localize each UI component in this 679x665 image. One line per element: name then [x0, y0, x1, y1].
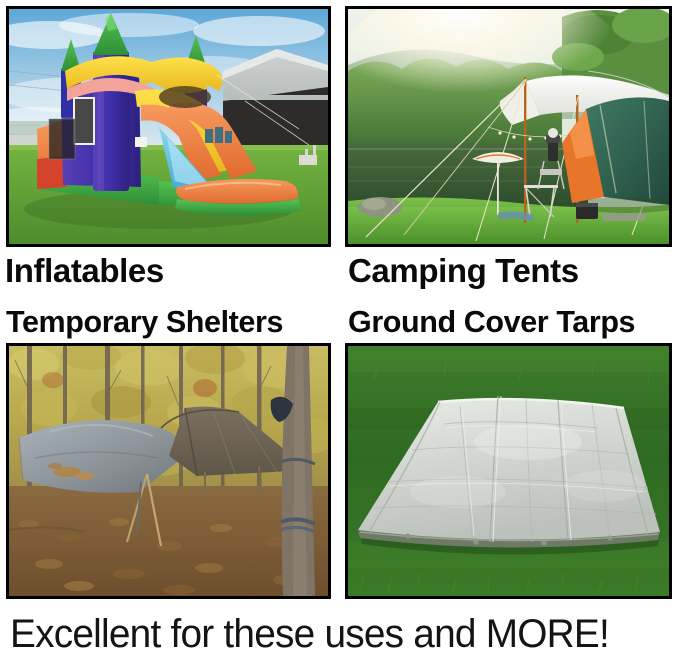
bottom-caption: Excellent for these uses and MORE!: [10, 612, 650, 657]
silver-ground-tarp-photo: [348, 346, 669, 596]
label-inflatables: Inflatables: [5, 252, 164, 290]
photo-groundcover: [345, 343, 672, 599]
photo-camping: [345, 6, 672, 247]
camping-tent-lakeside-photo: [348, 9, 669, 244]
tarp-forest-shelter-photo: [9, 346, 328, 596]
photo-inflatables: [6, 6, 331, 247]
label-temporary-shelters: Temporary Shelters: [6, 305, 283, 340]
label-camping-tents: Camping Tents: [348, 252, 579, 290]
photo-shelters: [6, 343, 331, 599]
label-ground-cover-tarps: Ground Cover Tarps: [348, 305, 635, 340]
uses-photo-grid: [0, 0, 679, 600]
inflatable-bounce-house-photo: [9, 9, 328, 244]
